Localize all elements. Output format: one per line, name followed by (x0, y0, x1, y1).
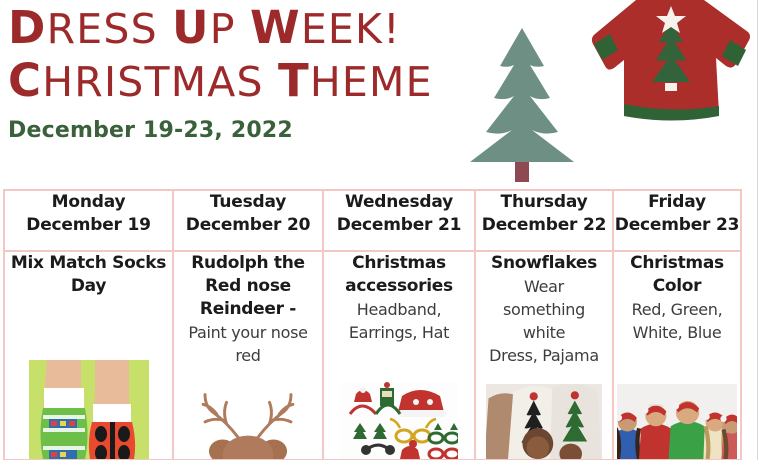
activity-detail: Headband, Earrings, Hat (324, 298, 474, 344)
activity-detail-line-4: Dress, Pajama (476, 344, 612, 367)
christmas-sweater-icon (580, 0, 760, 142)
flyer-header: DRESS UP WEEK! CHRISTMAS THEME December … (0, 0, 768, 186)
page-title-line-2: CHRISTMAS THEME (8, 55, 478, 108)
reindeer-antlers-icon (192, 377, 304, 459)
day-header-monday: Monday December 19 (4, 190, 173, 251)
day-date: December 20 (174, 214, 322, 237)
activity-title: Christmas accessories (324, 252, 474, 298)
date-range-subtitle: December 19-23, 2022 (8, 118, 478, 143)
activity-cell-tuesday: Rudolph the Red nose Reindeer - Paint yo… (173, 251, 323, 460)
activity-detail-line-3: white (476, 321, 612, 344)
day-date: December 19 (5, 214, 172, 237)
day-name: Friday (614, 191, 740, 214)
day-date: December 21 (324, 214, 474, 237)
group-santa-hats-photo (617, 384, 737, 459)
day-name: Thursday (476, 191, 612, 214)
day-date: December 23 (614, 214, 740, 237)
day-header-friday: Friday December 23 (613, 190, 741, 251)
christmas-accessories-photo (340, 382, 458, 459)
activity-cell-thursday: Snowflakes Wear something white Dress, P… (475, 251, 613, 460)
christmas-tree-icon (452, 22, 592, 182)
activity-detail: Paint your nose red (174, 321, 322, 367)
day-name: Monday (5, 191, 172, 214)
table-header-row: Monday December 19 Tuesday December 20 W… (4, 190, 741, 251)
family-white-sweaters-photo (486, 384, 602, 459)
activity-title: Mix Match Socks Day (5, 252, 172, 298)
title-block: DRESS UP WEEK! CHRISTMAS THEME December … (8, 2, 478, 143)
activity-title: Snowflakes (476, 252, 612, 275)
flyer-page: DRESS UP WEEK! CHRISTMAS THEME December … (0, 0, 768, 460)
table-activity-row: Mix Match Socks Day (4, 251, 741, 460)
activity-cell-friday: Christmas Color Red, Green, White, Blue (613, 251, 741, 460)
activity-detail-line-2: something (476, 298, 612, 321)
activity-detail: Red, Green, White, Blue (614, 298, 740, 344)
mismatched-socks-photo (29, 360, 149, 459)
day-header-thursday: Thursday December 22 (475, 190, 613, 251)
activity-detail-line-1: Wear (476, 275, 612, 298)
day-date: December 22 (476, 214, 612, 237)
activity-title: Rudolph the Red nose Reindeer - (174, 252, 322, 321)
day-name: Wednesday (324, 191, 474, 214)
day-name: Tuesday (174, 191, 322, 214)
page-title-line-1: DRESS UP WEEK! (8, 2, 478, 55)
activity-cell-monday: Mix Match Socks Day (4, 251, 173, 460)
activity-title: Christmas Color (614, 252, 740, 298)
day-header-wednesday: Wednesday December 21 (323, 190, 475, 251)
day-header-tuesday: Tuesday December 20 (173, 190, 323, 251)
activity-cell-wednesday: Christmas accessories Headband, Earrings… (323, 251, 475, 460)
dress-up-week-schedule-table: Monday December 19 Tuesday December 20 W… (3, 189, 742, 460)
